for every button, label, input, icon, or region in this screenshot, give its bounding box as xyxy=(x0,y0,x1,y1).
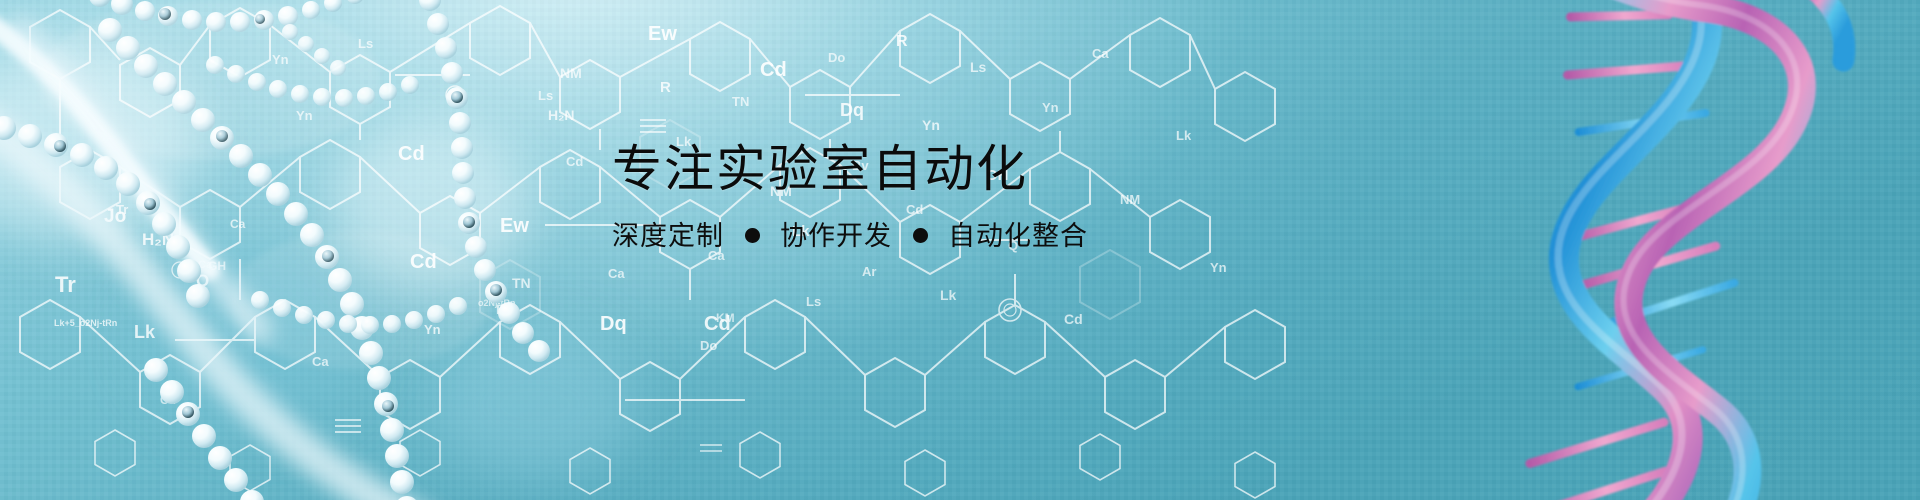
svg-text:R: R xyxy=(496,301,506,317)
svg-text:R: R xyxy=(896,33,908,50)
svg-text:Ca: Ca xyxy=(230,217,246,231)
svg-text:NM: NM xyxy=(560,65,582,81)
svg-text:Cd: Cd xyxy=(410,251,437,273)
svg-text:Yn: Yn xyxy=(922,117,940,133)
bullet-separator-icon xyxy=(913,228,928,243)
svg-text:Yn: Yn xyxy=(296,108,313,123)
svg-text:Cd: Cd xyxy=(160,393,176,407)
svg-text:Cd: Cd xyxy=(566,154,583,169)
svg-text:Lk+5_o2Nj-tRn: Lk+5_o2Nj-tRn xyxy=(54,318,117,328)
hero-banner: Tr Jo Tr Lk Lk+5_o2Nj-tRn H₂N= Q Ca GH C… xyxy=(0,0,1920,500)
svg-text:o2Nj-tRn: o2Nj-tRn xyxy=(478,298,516,308)
svg-text:Cd: Cd xyxy=(398,143,425,165)
bokeh-blob-1 xyxy=(0,40,200,240)
svg-text:Yn: Yn xyxy=(424,322,441,337)
svg-text:Ls: Ls xyxy=(358,36,373,51)
dna-double-helix xyxy=(1430,0,1920,500)
svg-text:Ar: Ar xyxy=(862,264,876,279)
svg-text:Ca: Ca xyxy=(1092,46,1109,61)
svg-text:Lk: Lk xyxy=(940,287,957,303)
pearl-dna-strands xyxy=(0,0,680,500)
subtitle-part-1: 深度定制 xyxy=(612,221,724,251)
page-title: 专注实验室自动化 xyxy=(612,142,1232,196)
svg-text:Ls: Ls xyxy=(806,294,821,309)
svg-text:Yn: Yn xyxy=(1210,260,1227,275)
svg-text:Lk: Lk xyxy=(1176,128,1192,143)
svg-text:Ew: Ew xyxy=(648,23,677,45)
svg-text:Cd: Cd xyxy=(1064,311,1083,327)
bokeh-blob-2 xyxy=(140,250,370,430)
svg-text:Ls: Ls xyxy=(970,59,987,75)
svg-text:Jo: Jo xyxy=(104,206,126,227)
svg-text:Cd: Cd xyxy=(760,59,787,81)
svg-text:TN: TN xyxy=(512,275,531,291)
svg-text:GH: GH xyxy=(208,259,226,273)
hero-text-block: 专注实验室自动化 深度定制 协作开发 自动化整合 xyxy=(612,142,1232,252)
svg-text:H₂N=: H₂N= xyxy=(142,230,184,249)
svg-text:Cd: Cd xyxy=(704,313,731,335)
subtitle-part-3: 自动化整合 xyxy=(948,221,1088,251)
bokeh-blob-4 xyxy=(430,330,640,480)
svg-text:H₂N: H₂N xyxy=(548,107,574,123)
subtitle-part-2: 协作开发 xyxy=(780,221,892,251)
svg-text:Do: Do xyxy=(700,338,717,353)
svg-text:Yn: Yn xyxy=(272,52,289,67)
svg-text:Ew: Ew xyxy=(500,215,529,237)
bullet-separator-icon xyxy=(745,228,760,243)
hero-subtitle: 深度定制 协作开发 自动化整合 xyxy=(612,220,1232,252)
svg-text:Ls: Ls xyxy=(538,88,553,103)
svg-text:Yn: Yn xyxy=(1042,100,1059,115)
svg-text:Tr: Tr xyxy=(116,202,128,217)
svg-text:Dq: Dq xyxy=(840,100,864,120)
svg-text:Dq: Dq xyxy=(600,313,627,335)
svg-text:Do: Do xyxy=(828,50,845,65)
svg-text:Ca: Ca xyxy=(608,266,625,281)
svg-text:KM: KM xyxy=(716,311,735,325)
bokeh-blob-3 xyxy=(330,120,530,290)
svg-text:Lk: Lk xyxy=(134,322,156,342)
svg-text:TN: TN xyxy=(732,94,749,109)
svg-text:Tr: Tr xyxy=(55,272,76,297)
svg-text:R: R xyxy=(660,79,671,96)
svg-text:Q: Q xyxy=(196,271,209,290)
svg-text:Ca: Ca xyxy=(312,354,329,369)
svg-text:Ca: Ca xyxy=(198,259,213,271)
